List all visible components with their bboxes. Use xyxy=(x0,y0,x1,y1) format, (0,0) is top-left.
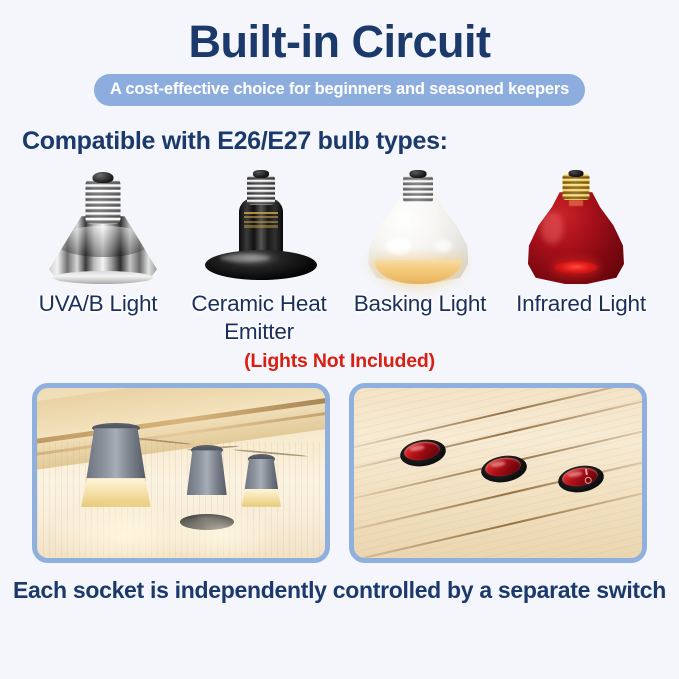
bulb-cell-basking xyxy=(343,166,493,284)
rocker-switch[interactable] xyxy=(558,466,604,492)
contact-cap xyxy=(93,172,114,183)
bulb-image-row xyxy=(0,156,679,284)
warm-glow xyxy=(375,260,461,284)
screw-thread xyxy=(247,175,275,205)
wood-panel-scene xyxy=(354,388,642,558)
lamp-fixture xyxy=(244,459,278,511)
lamp-light-glow xyxy=(242,489,281,507)
infrared-bulb-icon xyxy=(528,170,624,284)
floor-light-pool xyxy=(164,507,279,558)
label-cell-basking: Basking Light xyxy=(340,290,500,318)
bulb-cell-uva-b xyxy=(28,166,178,284)
bulb-label: UVA/B Light xyxy=(39,290,158,318)
ceramic-heat-emitter-icon xyxy=(201,170,321,284)
compatibility-heading: Compatible with E26/E27 bulb types: xyxy=(0,127,679,156)
red-hot-spot xyxy=(554,261,598,274)
emitter-disc-base xyxy=(205,250,317,280)
screw-thread xyxy=(86,179,121,224)
label-cell-uva-b: UVA/B Light xyxy=(18,290,178,318)
screw-thread xyxy=(403,175,433,203)
subtitle-banner-wrap: A cost-effective choice for beginners an… xyxy=(0,74,679,106)
lamp-shade xyxy=(86,428,146,481)
bulb-cell-ceramic xyxy=(186,166,336,284)
lamp-shade xyxy=(244,459,278,491)
rocker-switches-photo xyxy=(349,383,647,563)
rocker-switch[interactable] xyxy=(400,440,446,466)
bulb-label: Basking Light xyxy=(354,290,487,318)
footer-caption: Each socket is independently controlled … xyxy=(0,577,679,604)
label-cell-ceramic: Ceramic Heat Emitter xyxy=(179,290,339,346)
brass-screw-thread xyxy=(562,174,589,200)
emitter-printed-text xyxy=(244,212,278,228)
contact-cap xyxy=(568,170,583,177)
enclosure-scene xyxy=(37,388,325,558)
contact-cap xyxy=(410,170,427,178)
bulb-label: Ceramic Heat Emitter xyxy=(179,290,339,346)
bulb-label-row: UVA/B Light Ceramic Heat Emitter Basking… xyxy=(0,284,679,346)
lights-not-included-note: (Lights Not Included) xyxy=(0,350,679,373)
page-title: Built-in Circuit xyxy=(0,0,679,65)
rocker-switch[interactable] xyxy=(481,456,527,482)
lamp-shade xyxy=(187,450,227,495)
photo-row xyxy=(0,373,679,563)
basking-bulb-icon xyxy=(368,170,468,284)
reflector-rim xyxy=(53,271,153,284)
subtitle-banner: A cost-effective choice for beginners an… xyxy=(94,74,585,106)
bulb-label: Infrared Light xyxy=(516,290,646,318)
contact-cap xyxy=(253,170,269,178)
enclosure-lamps-photo xyxy=(32,383,330,563)
bulb-cell-infrared xyxy=(501,166,651,284)
label-cell-infrared: Infrared Light xyxy=(501,290,661,318)
uva-b-reflector-bulb-icon xyxy=(49,172,157,284)
infographic-page: Built-in Circuit A cost-effective choice… xyxy=(0,0,679,679)
